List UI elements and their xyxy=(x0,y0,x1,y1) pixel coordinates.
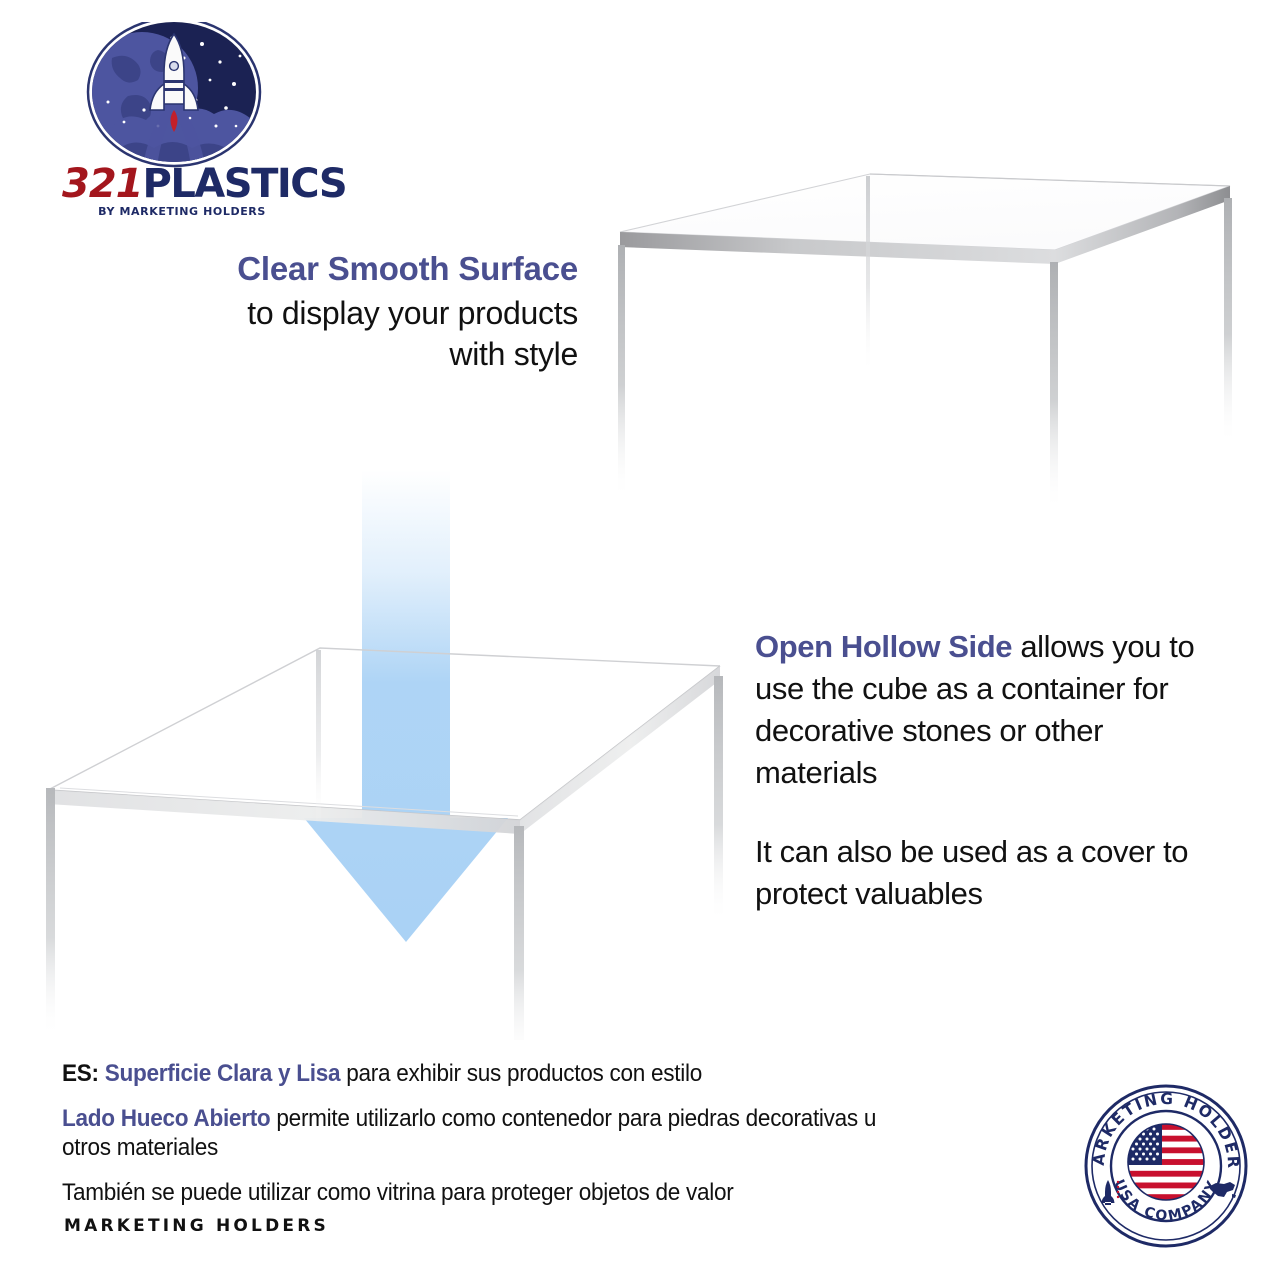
spanish-line-2-emphasis: Lado Hueco Abierto xyxy=(62,1105,270,1132)
headline-top-line3: with style xyxy=(60,334,578,376)
brand-wordmark: 321PLASTICS BY MARKETING HOLDERS xyxy=(62,164,302,217)
headline-top-emphasis: Clear Smooth Surface xyxy=(60,248,578,291)
spanish-line-1: ES: Superficie Clara y Lisa para exhibir… xyxy=(62,1060,908,1088)
clear-acrylic-cube-open-hollow-image xyxy=(20,620,750,1040)
wordmark-word: PLASTICS xyxy=(143,161,347,207)
headline-clear-smooth-surface: Clear Smooth Surface to display your pro… xyxy=(60,248,578,376)
headline-right-paragraph-1: Open Hollow Side allows you to use the c… xyxy=(755,626,1215,795)
spanish-line-2: Lado Hueco Abierto permite utilizarlo co… xyxy=(62,1105,908,1162)
spanish-line-1-rest: para exhibir sus productos con estilo xyxy=(340,1060,702,1087)
spanish-line-1-emphasis: Superficie Clara y Lisa xyxy=(105,1060,341,1087)
wordmark-number: 321 xyxy=(62,161,143,207)
headline-top-line2: to display your products xyxy=(60,293,578,335)
spanish-language-tag: ES: xyxy=(62,1060,99,1087)
headline-right-paragraph-2: It can also be used as a cover to protec… xyxy=(755,831,1215,915)
footer-brand-name: MARKETING HOLDERS xyxy=(64,1216,329,1236)
spanish-translation-block: ES: Superficie Clara y Lisa para exhibir… xyxy=(62,1060,962,1207)
spanish-line-3: También se puede utilizar como vitrina p… xyxy=(62,1179,908,1207)
headline-right-emphasis: Open Hollow Side xyxy=(755,629,1012,664)
us-flag-icon xyxy=(1128,1124,1204,1200)
rocket-globe-badge-icon xyxy=(84,22,264,174)
headline-open-hollow-side: Open Hollow Side allows you to use the c… xyxy=(755,626,1215,915)
usa-company-badge: MARKETING HOLDERS USA COMPANY xyxy=(1082,1082,1250,1250)
brand-logo: 321PLASTICS BY MARKETING HOLDERS xyxy=(62,22,302,212)
infographic-page: 321PLASTICS BY MARKETING HOLDERS xyxy=(0,0,1280,1280)
wordmark-subtitle: BY MARKETING HOLDERS xyxy=(62,206,302,217)
clear-acrylic-cube-closed-top-image xyxy=(590,150,1250,550)
